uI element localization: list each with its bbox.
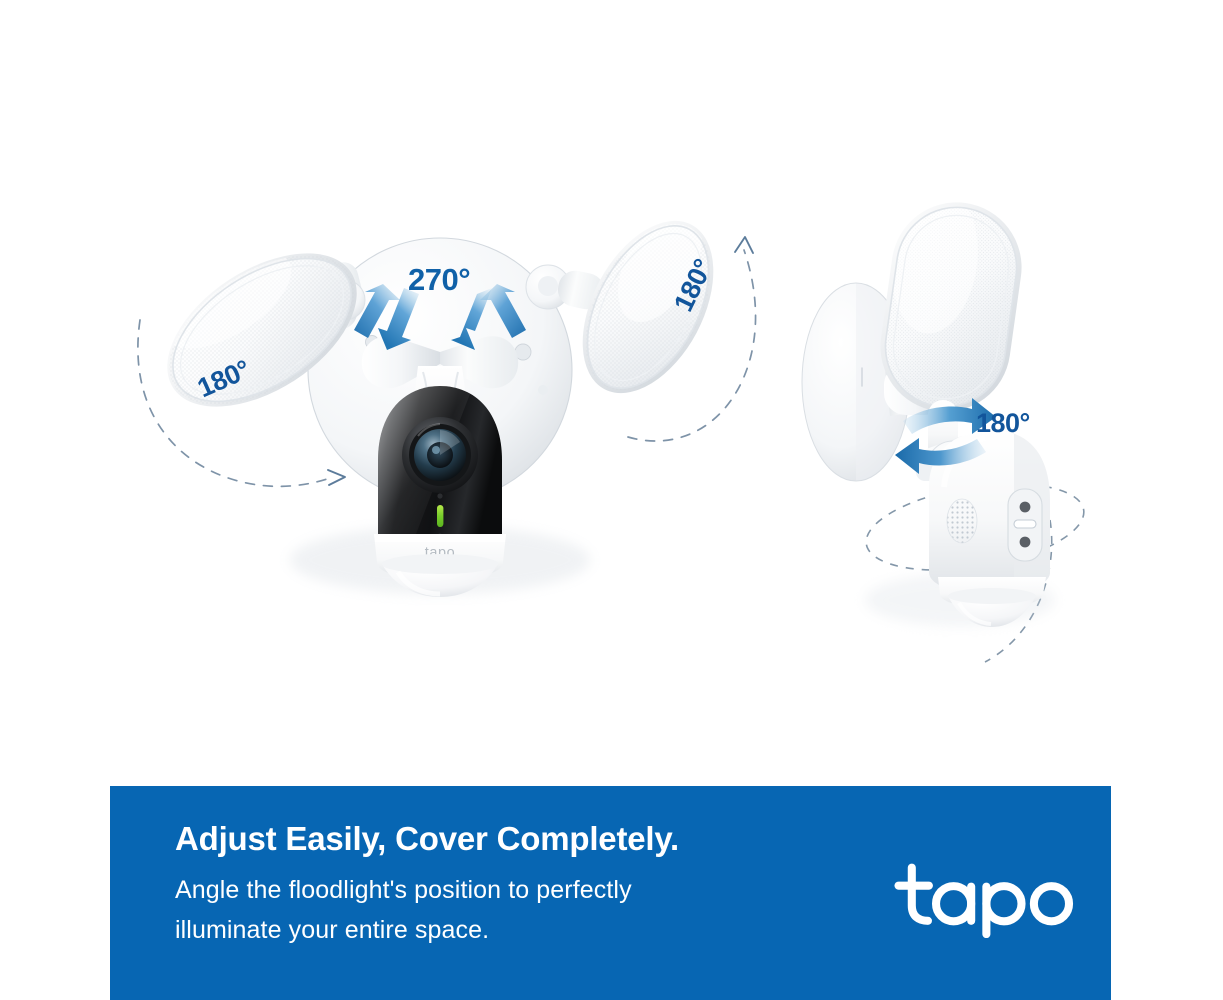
marketing-banner: Adjust Easily, Cover Completely. Angle t…: [110, 786, 1111, 1000]
banner-text-block: Adjust Easily, Cover Completely. Angle t…: [175, 819, 815, 951]
banner-subtitle-line-2: illuminate your entire space.: [175, 910, 815, 951]
camera-lens: [402, 417, 478, 493]
camera-body: [378, 386, 502, 539]
angle-label-180-wall-mount: 180°: [976, 408, 1030, 439]
status-led: [437, 505, 443, 527]
microphone-hole: [1020, 537, 1031, 548]
banner-heading: Adjust Easily, Cover Completely.: [175, 819, 815, 859]
tapo-logo: [889, 858, 1079, 938]
product-scene-graphic: tapo: [0, 0, 1223, 786]
product-marketing-image: tapo: [0, 0, 1223, 1000]
angle-label-270: 270°: [408, 262, 470, 298]
side-view-device: [802, 185, 1090, 662]
speaker-grille: [947, 499, 977, 543]
usb-c-port: [1014, 520, 1036, 528]
product-illustration-stage: tapo: [0, 0, 1223, 786]
front-view-device: tapo: [138, 194, 756, 597]
reset-button: [1020, 502, 1031, 513]
port-panel: [1008, 489, 1042, 561]
banner-subtitle-line-1: Angle the floodlight's position to perfe…: [175, 870, 815, 911]
